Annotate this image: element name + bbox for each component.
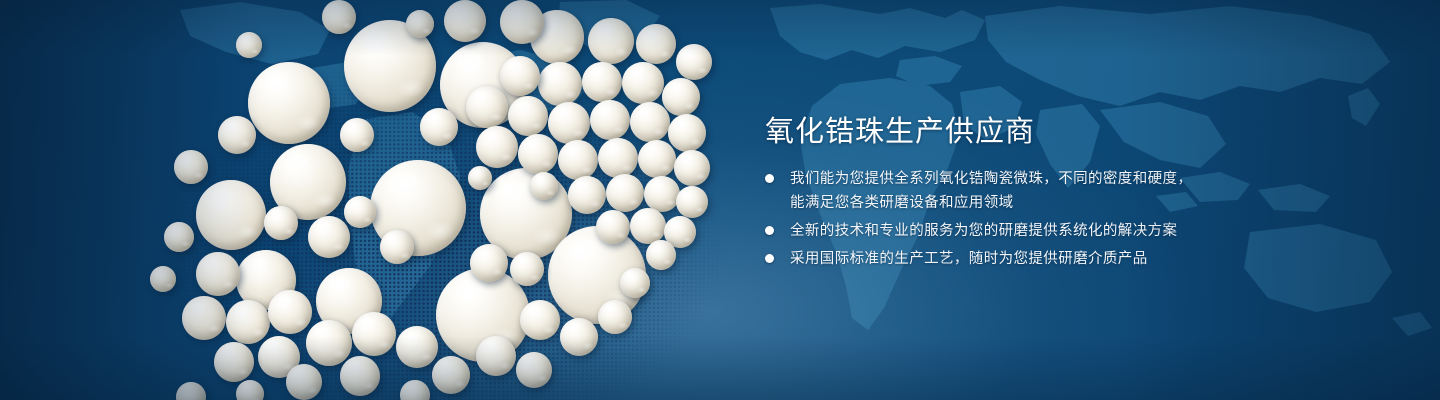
bullet-line-2: 能满足您各类研磨设备和应用领域 <box>790 191 1192 215</box>
bullet-dot-icon <box>765 254 774 263</box>
bullet-line-1: 我们能为您提供全系列氧化锆陶瓷微珠，不同的密度和硬度， <box>790 171 1192 187</box>
list-item: 采用国际标准的生产工艺，随时为您提供研磨介质产品 <box>765 247 1385 271</box>
bullet-text: 我们能为您提供全系列氧化锆陶瓷微珠，不同的密度和硬度， 能满足您各类研磨设备和应… <box>790 167 1192 215</box>
banner-content: 氧化锆珠生产供应商 我们能为您提供全系列氧化锆陶瓷微珠，不同的密度和硬度， 能满… <box>765 0 1385 400</box>
bullet-dot-icon <box>765 226 774 235</box>
hero-banner: 氧化锆珠生产供应商 我们能为您提供全系列氧化锆陶瓷微珠，不同的密度和硬度， 能满… <box>0 0 1440 400</box>
list-item: 全新的技术和专业的服务为您的研磨提供系统化的解决方案 <box>765 219 1385 243</box>
banner-title: 氧化锆珠生产供应商 <box>765 108 1035 150</box>
bullet-text: 采用国际标准的生产工艺，随时为您提供研磨介质产品 <box>790 247 1148 271</box>
banner-feature-list: 我们能为您提供全系列氧化锆陶瓷微珠，不同的密度和硬度， 能满足您各类研磨设备和应… <box>765 167 1385 275</box>
bullet-text: 全新的技术和专业的服务为您的研磨提供系统化的解决方案 <box>790 219 1177 243</box>
bullet-dot-icon <box>765 174 774 183</box>
list-item: 我们能为您提供全系列氧化锆陶瓷微珠，不同的密度和硬度， 能满足您各类研磨设备和应… <box>765 167 1385 215</box>
